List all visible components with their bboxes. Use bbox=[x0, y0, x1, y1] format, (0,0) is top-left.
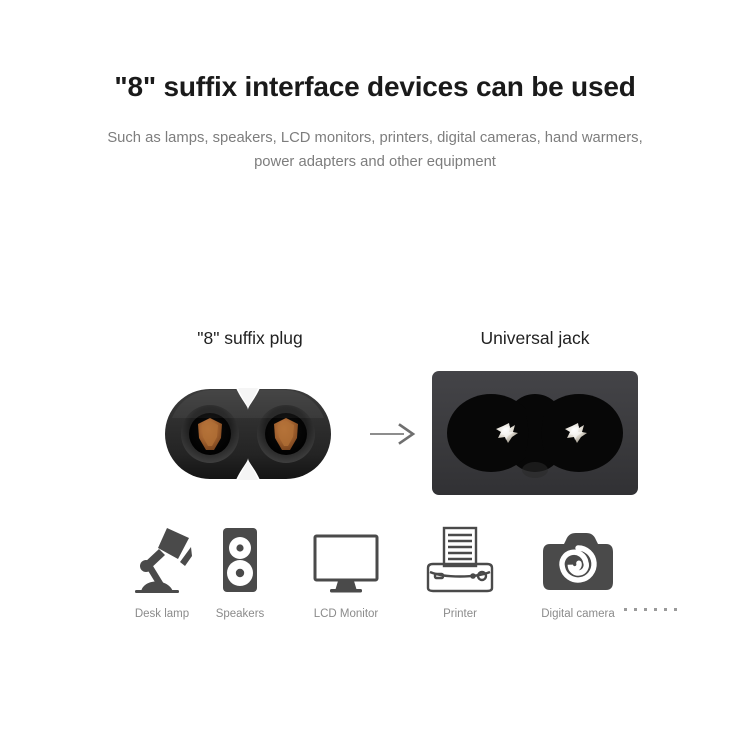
jack-caption: Universal jack bbox=[455, 328, 615, 349]
plug-svg bbox=[164, 388, 332, 480]
jack-svg bbox=[431, 370, 639, 496]
suffix-8-plug-image bbox=[164, 388, 332, 480]
device-item-speakers: Speakers bbox=[180, 522, 300, 620]
device-label: Digital camera bbox=[518, 608, 638, 620]
device-label: Speakers bbox=[180, 608, 300, 620]
supported-devices-list: Desk lamp Speakers LCD Monitor bbox=[0, 522, 750, 642]
universal-jack-image bbox=[431, 370, 639, 496]
ellipsis-dot bbox=[644, 608, 647, 611]
ellipsis-dot bbox=[624, 608, 627, 611]
device-item-printer: Printer bbox=[400, 522, 520, 620]
comparison-section: "8" suffix plug Universal jack bbox=[0, 318, 750, 518]
device-item-digital-camera: Digital camera bbox=[518, 522, 638, 620]
page-title: "8" suffix interface devices can be used bbox=[0, 0, 750, 104]
subtitle-line-1: Such as lamps, speakers, LCD monitors, p… bbox=[0, 126, 750, 150]
speakers-icon bbox=[180, 522, 300, 594]
lcd-monitor-icon bbox=[286, 522, 406, 594]
page-subtitle: Such as lamps, speakers, LCD monitors, p… bbox=[0, 104, 750, 175]
subtitle-line-2: power adapters and other equipment bbox=[0, 150, 750, 174]
digital-camera-icon bbox=[518, 522, 638, 594]
ellipsis-dot bbox=[654, 608, 657, 611]
device-label: Printer bbox=[400, 608, 520, 620]
ellipsis-dot bbox=[674, 608, 677, 611]
plug-caption: "8" suffix plug bbox=[170, 328, 330, 349]
device-label: LCD Monitor bbox=[286, 608, 406, 620]
device-item-lcd-monitor: LCD Monitor bbox=[286, 522, 406, 620]
header: "8" suffix interface devices can be used… bbox=[0, 0, 750, 174]
ellipsis-dot bbox=[634, 608, 637, 611]
more-devices-ellipsis bbox=[624, 608, 677, 611]
printer-icon bbox=[400, 522, 520, 594]
arrow-right-icon bbox=[368, 422, 418, 446]
ellipsis-dot bbox=[664, 608, 667, 611]
